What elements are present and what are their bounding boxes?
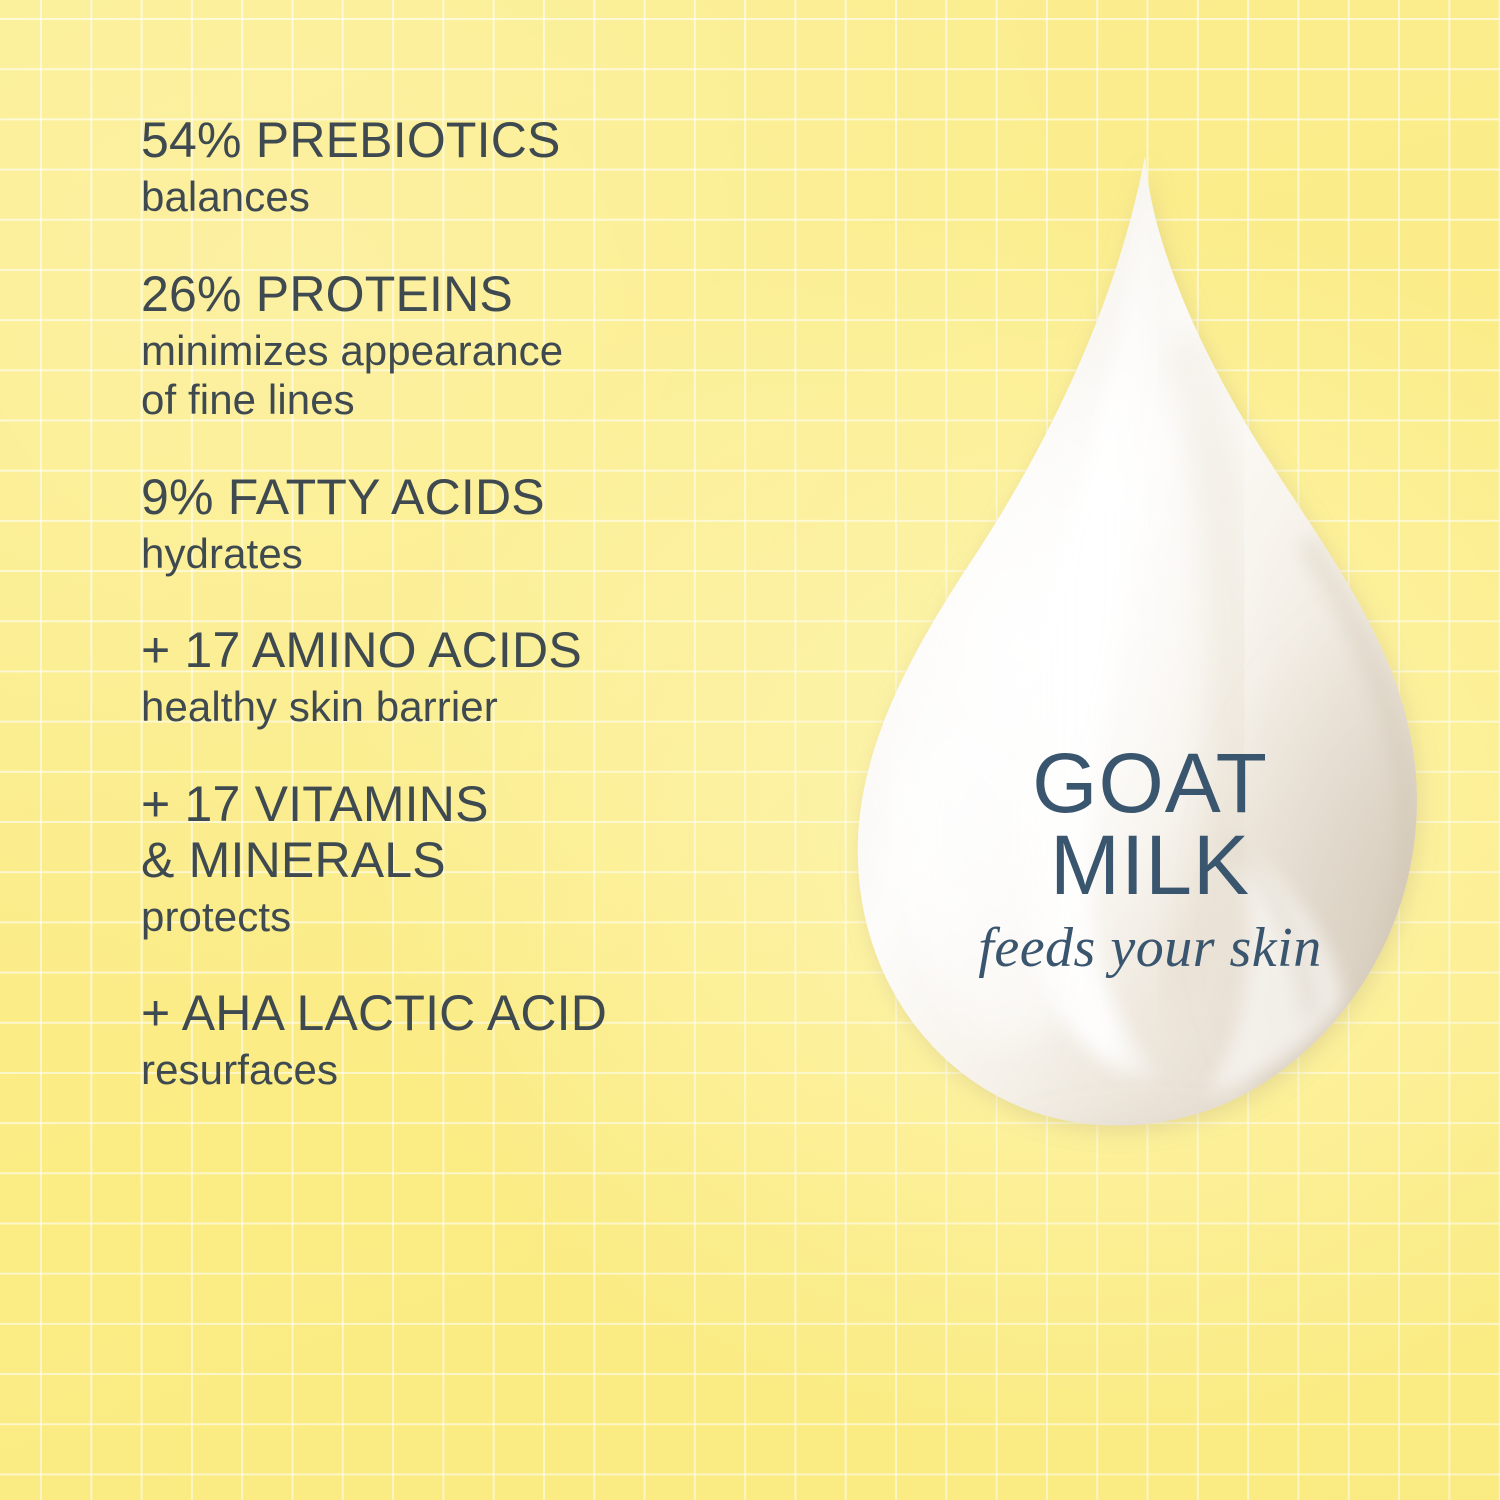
- infographic-canvas: 54% PREBIOTICS balances 26% PROTEINS min…: [0, 0, 1500, 1500]
- ingredient-benefit: balances: [141, 172, 861, 222]
- ingredient-headline: 26% PROTEINS: [141, 266, 861, 322]
- ingredient-item-amino-acids: + 17 AMINO ACIDS healthy skin barrier: [141, 622, 861, 732]
- ingredient-benefit: minimizes appearance of fine lines: [141, 326, 861, 425]
- ingredient-benefit-list: 54% PREBIOTICS balances 26% PROTEINS min…: [141, 112, 861, 1095]
- ingredient-benefit: hydrates: [141, 529, 861, 579]
- ingredient-item-vitamins-minerals: + 17 VITAMINS & MINERALS protects: [141, 776, 861, 942]
- ingredient-headline: + 17 VITAMINS & MINERALS: [141, 776, 861, 888]
- ingredient-headline: + AHA LACTIC ACID: [141, 985, 861, 1041]
- milk-droplet-illustration: [836, 140, 1456, 1220]
- milk-droplet-icon: [836, 140, 1456, 1220]
- ingredient-item-fatty-acids: 9% FATTY ACIDS hydrates: [141, 469, 861, 579]
- ingredient-item-proteins: 26% PROTEINS minimizes appearance of fin…: [141, 266, 861, 425]
- ingredient-item-prebiotics: 54% PREBIOTICS balances: [141, 112, 861, 222]
- ingredient-benefit: healthy skin barrier: [141, 682, 861, 732]
- ingredient-headline: 9% FATTY ACIDS: [141, 469, 861, 525]
- ingredient-headline: 54% PREBIOTICS: [141, 112, 861, 168]
- ingredient-headline: + 17 AMINO ACIDS: [141, 622, 861, 678]
- ingredient-item-aha-lactic-acid: + AHA LACTIC ACID resurfaces: [141, 985, 861, 1095]
- ingredient-benefit: protects: [141, 892, 861, 942]
- ingredient-benefit: resurfaces: [141, 1045, 861, 1095]
